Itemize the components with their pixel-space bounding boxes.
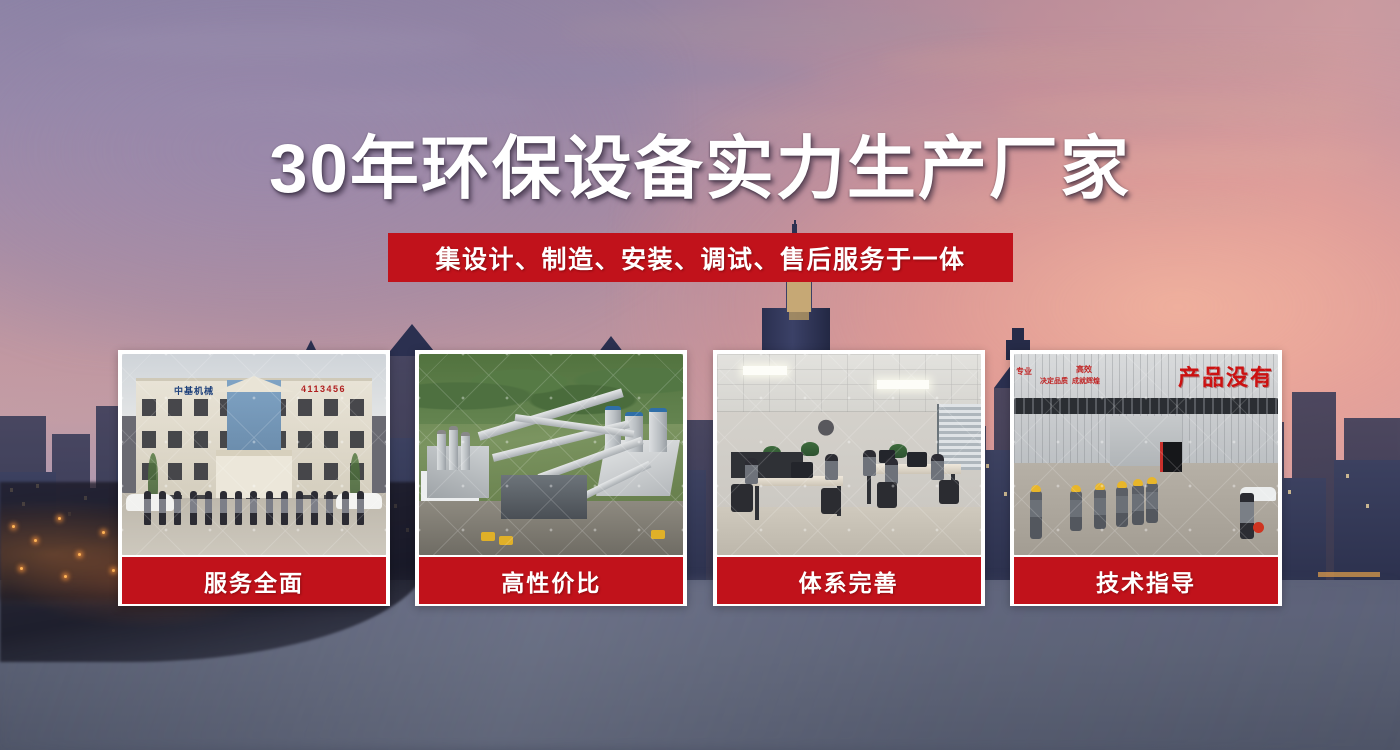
page-title: 30年环保设备实力生产厂家 [0, 133, 1400, 205]
cloud [60, 26, 480, 60]
card-caption: 体系完善 [717, 557, 981, 604]
factory-slogan-3: 高效 [1076, 366, 1092, 374]
factory-slogan-1: 专业 [1016, 368, 1032, 376]
card-photo-company-building: 中基机械 4113456 [122, 354, 386, 555]
card-caption: 高性价比 [419, 557, 683, 604]
feature-card[interactable]: 高性价比 [415, 350, 687, 606]
feature-card[interactable]: 体系完善 [713, 350, 985, 606]
card-caption: 技术指导 [1014, 557, 1278, 604]
feature-card[interactable]: 中基机械 4113456 服务全面 [118, 350, 390, 606]
building-sign-text: 中基机械 [174, 384, 214, 397]
cloud [560, 14, 990, 44]
banner-stage: 30年环保设备实力生产厂家 集设计、制造、安装、调试、售后服务于一体 中基机械 … [0, 0, 1400, 750]
card-caption: 服务全面 [122, 557, 386, 604]
feature-card[interactable]: 专业 决定品质 高效 成就辉煌 产品没有 [1010, 350, 1282, 606]
cloud [160, 96, 540, 118]
cloud [300, 60, 820, 86]
factory-slogan-2: 决定品质 [1040, 378, 1068, 385]
building-phone-text: 4113456 [301, 384, 346, 394]
feature-card-row: 中基机械 4113456 服务全面 [118, 350, 1282, 606]
subtitle-banner: 集设计、制造、安装、调试、售后服务于一体 [388, 233, 1013, 282]
cloud [880, 48, 1340, 76]
subtitle-text: 集设计、制造、安装、调试、售后服务于一体 [435, 240, 965, 276]
card-photo-industrial-plant [419, 354, 683, 555]
card-photo-office-interior [717, 354, 981, 555]
factory-slogan-4: 成就辉煌 [1072, 378, 1100, 385]
card-photo-workers-factory: 专业 决定品质 高效 成就辉煌 产品没有 [1014, 354, 1278, 555]
factory-big-sign: 产品没有 [1178, 360, 1274, 392]
